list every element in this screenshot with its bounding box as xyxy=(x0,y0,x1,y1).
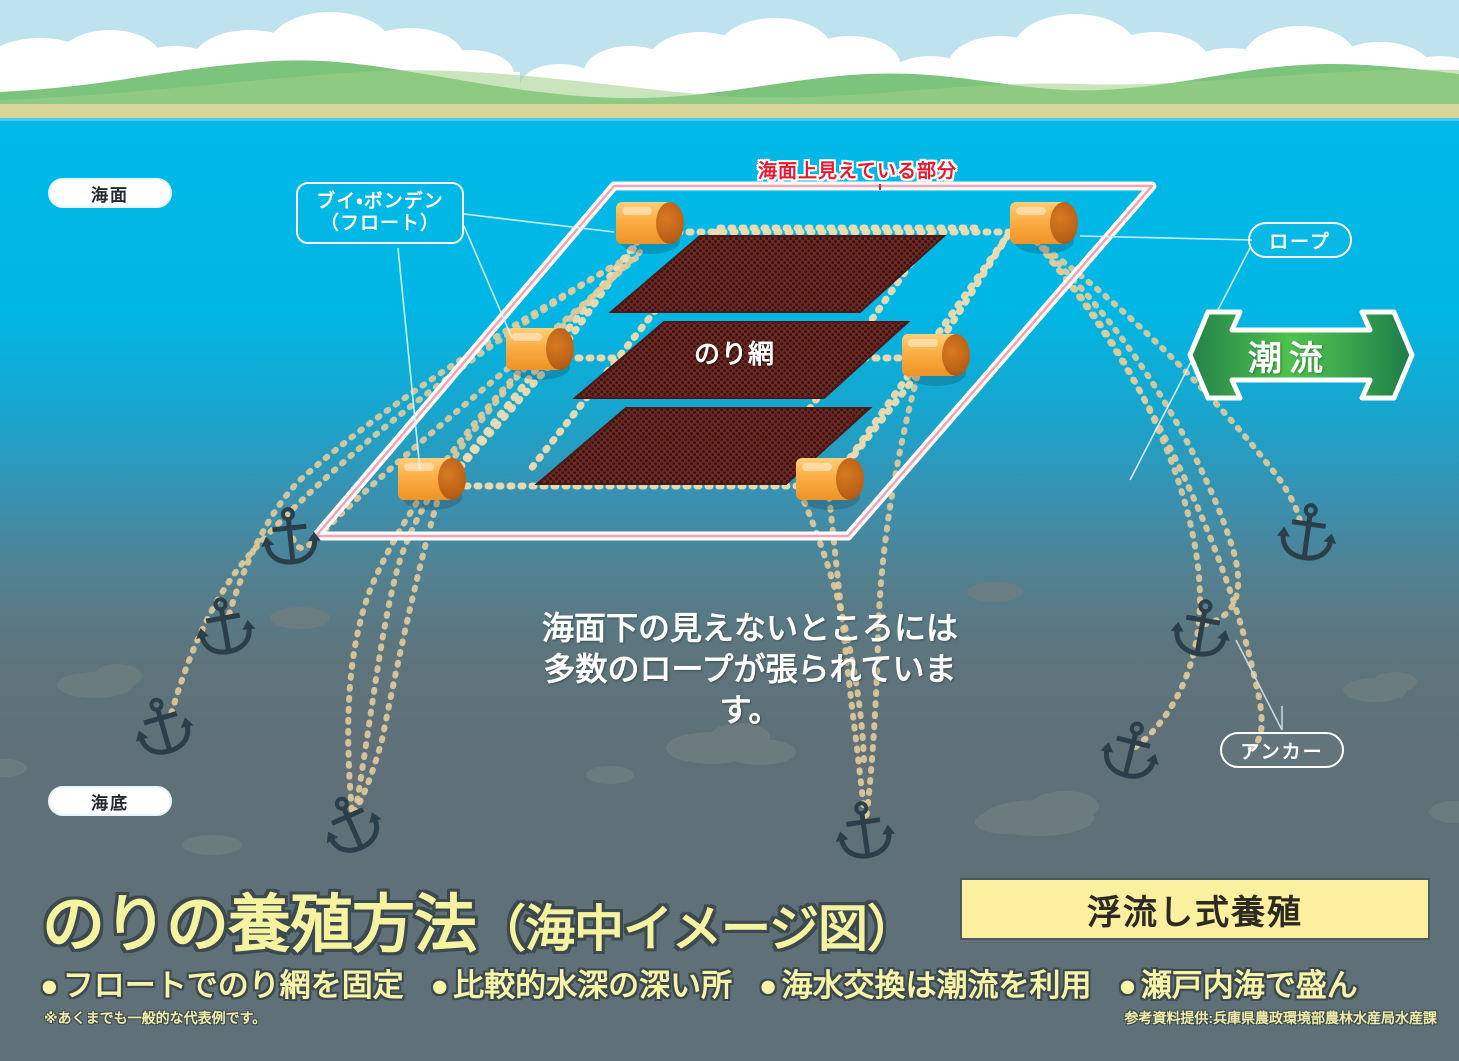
bullet-marker: ● xyxy=(1118,968,1137,1003)
bullet-item: 瀬戸内海で盛ん xyxy=(1141,968,1358,1003)
nori-net-label: のり網 xyxy=(694,334,775,371)
buoy-label-line2: （フロート） xyxy=(320,213,440,235)
center-note-line2: 多数のロープが張られています。 xyxy=(520,649,980,731)
bullet-marker: ● xyxy=(759,968,778,1003)
center-note-line1: 海面下の見えないところには xyxy=(520,608,980,649)
center-note: 海面下の見えないところには 多数のロープが張られています。 xyxy=(520,608,980,731)
infographic-canvas: .rope{stroke:#efdcb0;stroke-width:7;fill… xyxy=(0,0,1459,1061)
buoy-label-line1: ブイ・ボンデン xyxy=(316,191,443,213)
method-badge-label: 浮流し式養殖 xyxy=(1087,885,1303,934)
sea-surface-label: 海面 xyxy=(48,178,172,208)
page-title-main: のりの養殖方法 xyxy=(42,890,476,960)
source-credit: 参考資料提供:兵庫県農政環境部農林水産局水産課 xyxy=(1124,1008,1437,1028)
bullet-item: 比較的水深の深い所 xyxy=(453,968,732,1003)
page-title: のりの養殖方法（海中イメージ図） xyxy=(42,874,916,965)
bullet-list: ●フロートでのり網を固定 ●比較的水深の深い所 ●海水交換は潮流を利用 ●瀬戸内… xyxy=(40,960,1430,1005)
bullet-item: 海水交換は潮流を利用 xyxy=(781,968,1091,1003)
bullet-marker: ● xyxy=(430,968,449,1003)
method-badge: 浮流し式養殖 xyxy=(960,878,1430,940)
anchor-label: アンカー xyxy=(1220,732,1344,768)
rope-label: ロープ xyxy=(1248,222,1352,258)
footer-bar: のりの養殖方法（海中イメージ図） 浮流し式養殖 ●フロートでのり網を固定 ●比較… xyxy=(0,860,1459,1061)
page-title-sub: （海中イメージ図） xyxy=(476,901,916,957)
above-water-label: 海面上見えている部分 xyxy=(758,156,957,183)
bullet-marker: ● xyxy=(40,968,59,1003)
current-label: 潮流 xyxy=(1248,331,1330,380)
buoy-label-box: ブイ・ボンデン （フロート） xyxy=(296,182,464,244)
sea-bottom-label: 海底 xyxy=(48,786,172,816)
bullet-item: フロートでのり網を固定 xyxy=(63,968,404,1003)
footnote-text: ※あくまでも一般的な代表例です。 xyxy=(44,1008,266,1028)
